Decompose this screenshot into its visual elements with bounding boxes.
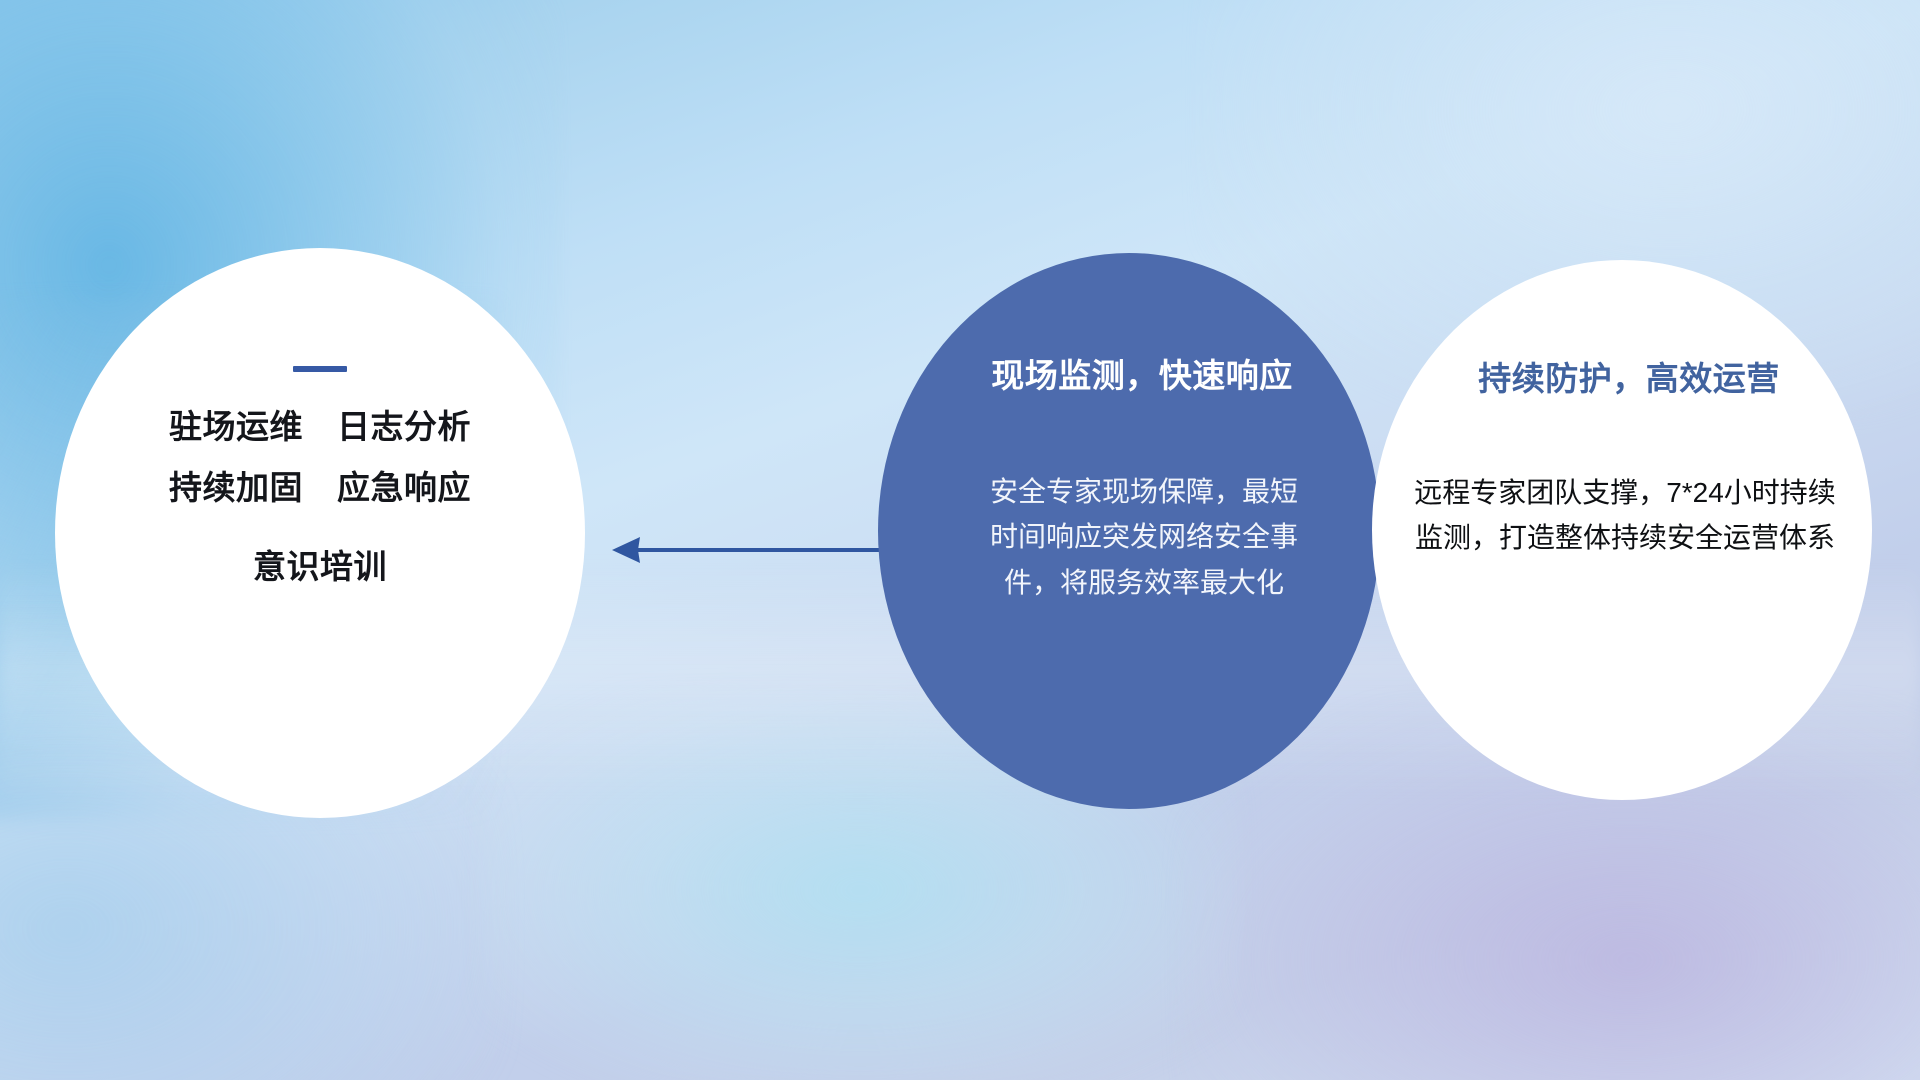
capability-awareness-training: 意识培训: [253, 550, 387, 583]
connector-arrow-left: [608, 520, 898, 580]
capability-continuous-hardening: 持续加固: [169, 469, 303, 506]
diagram-canvas: 驻场运维日志分析 持续加固应急响应 意识培训 现场监测，快速响应 安全专家现场保…: [0, 0, 1920, 1080]
continuous-protection-body: 远程专家团队支撑，7*24小时持续监测，打造整体持续安全运营体系: [1410, 470, 1840, 561]
capability-row-1: 驻场运维日志分析: [169, 410, 471, 443]
capability-row-2: 持续加固应急响应: [169, 471, 471, 504]
capability-onsite-ops: 驻场运维: [169, 408, 303, 445]
capability-emergency-response: 应急响应: [337, 469, 471, 506]
title-divider-rule: [293, 366, 347, 372]
capabilities-content: 驻场运维日志分析 持续加固应急响应 意识培训: [55, 248, 585, 818]
circle-onsite-monitoring[interactable]: [878, 253, 1380, 809]
continuous-protection-content: 持续防护，高效运营 远程专家团队支撑，7*24小时持续监测，打造整体持续安全运营…: [1372, 260, 1872, 800]
capability-log-analysis: 日志分析: [337, 408, 471, 445]
continuous-protection-title: 持续防护，高效运营: [1478, 352, 1780, 400]
